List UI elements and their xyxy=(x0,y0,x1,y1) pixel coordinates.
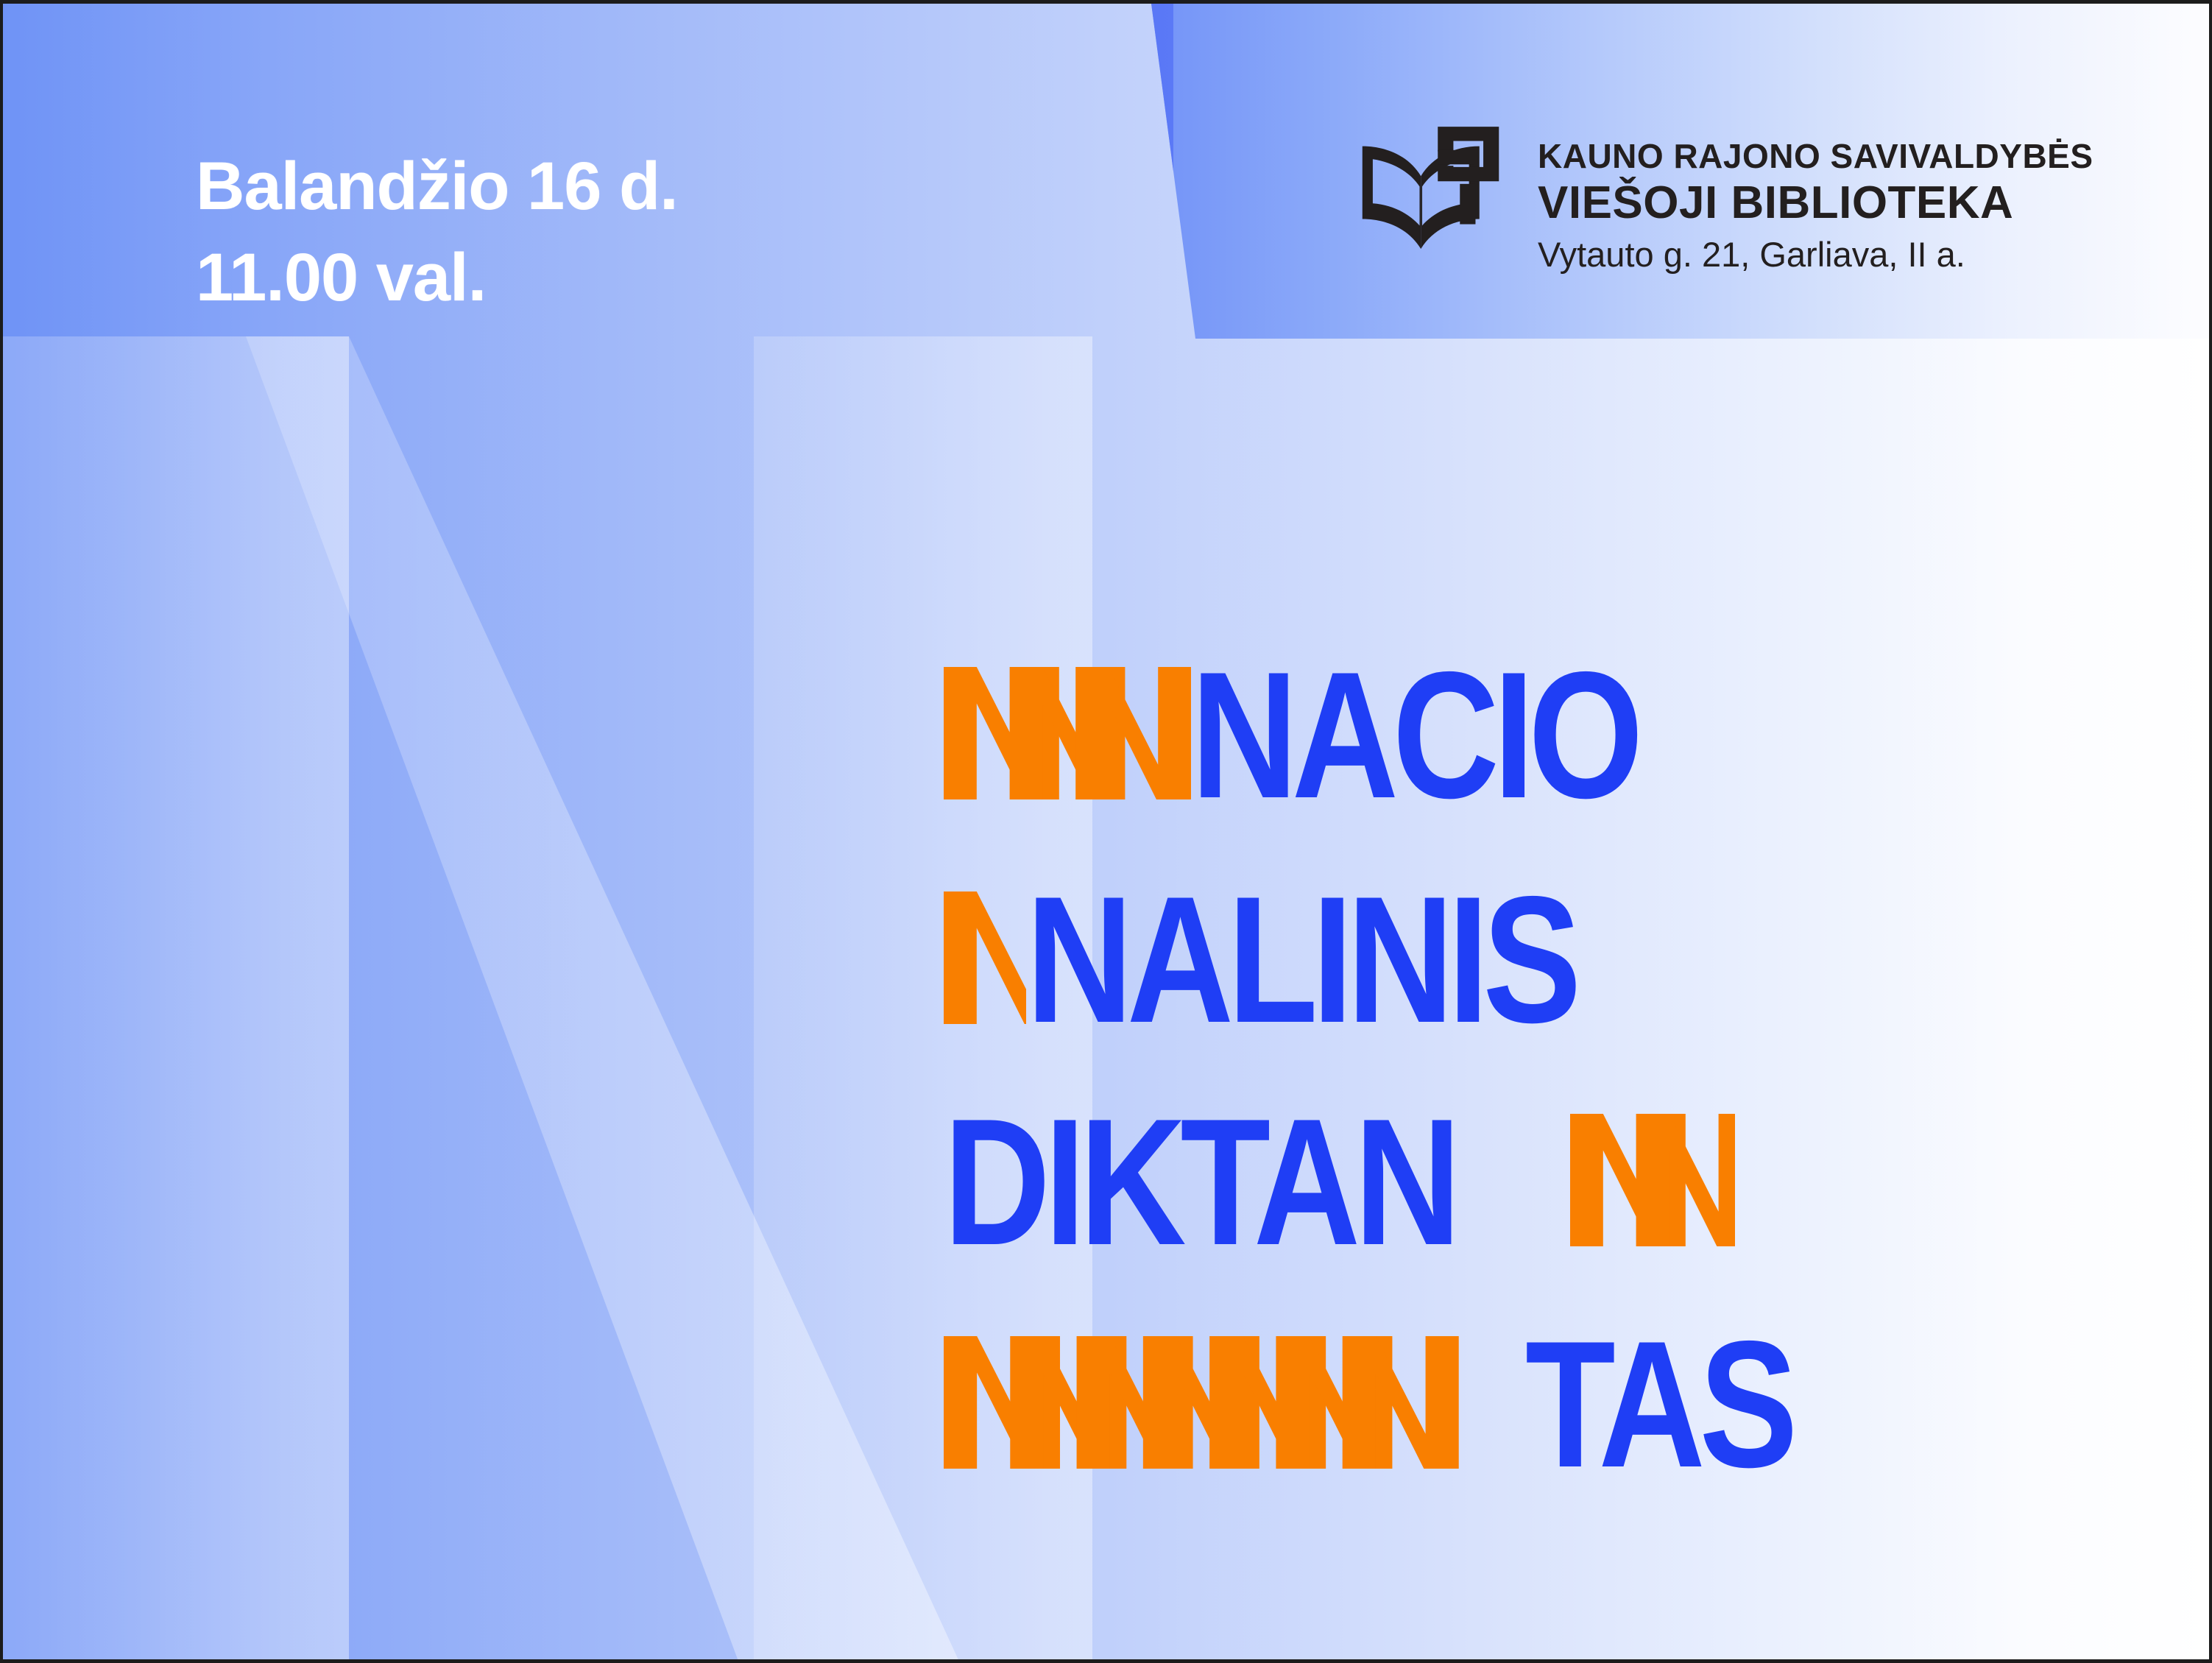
event-time: 11.00 val. xyxy=(196,232,678,323)
library-name-line2: VIEŠOJI BIBLIOTEKA xyxy=(1538,177,2093,229)
poster-canvas: Balandžio 16 d. 11.00 val. KAUNO RAJONO … xyxy=(0,0,2212,1663)
library-address: Vytauto g. 21, Garliava, II a. xyxy=(1538,229,2093,278)
open-book-maze-icon xyxy=(1361,121,1517,278)
library-logo: KAUNO RAJONO SAVIVALDYBĖS VIEŠOJI BIBLIO… xyxy=(1361,121,2093,278)
background-letter-n-watermark xyxy=(3,336,2212,1663)
library-name-line1: KAUNO RAJONO SAVIVALDYBĖS xyxy=(1538,135,2093,177)
event-date: Balandžio 16 d. xyxy=(196,141,678,232)
library-logo-text: KAUNO RAJONO SAVIVALDYBĖS VIEŠOJI BIBLIO… xyxy=(1538,121,2093,278)
event-datetime: Balandžio 16 d. 11.00 val. xyxy=(196,141,678,323)
